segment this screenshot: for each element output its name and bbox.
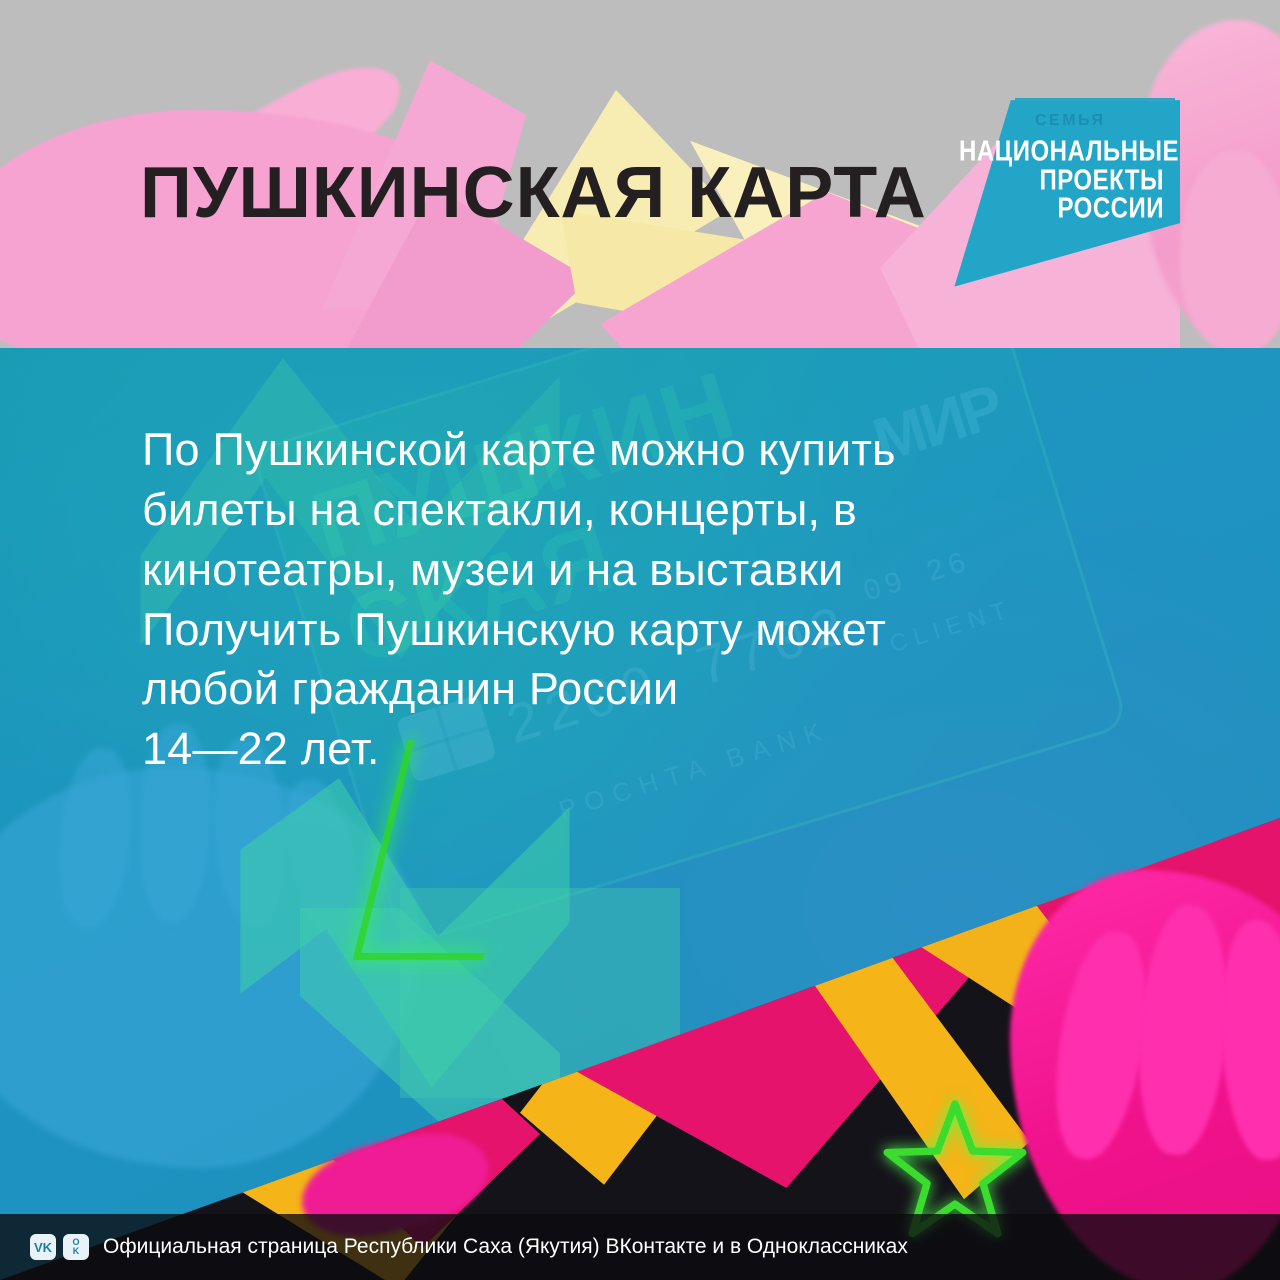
body-line-1: По Пушкинской карте можно купить [142, 420, 1092, 480]
body-line-3: кинотеатры, музеи и на выставки [142, 540, 1092, 600]
vk-icon-label: VK [34, 1240, 52, 1255]
vk-icon[interactable]: VK [30, 1234, 56, 1260]
footer-bar: VK O K Официальная страница Республики С… [0, 1214, 1280, 1280]
body-line-6: 14—22 лет. [142, 719, 1092, 779]
page-title: ПУШКИНСКАЯ КАРТА [140, 152, 927, 234]
logo-text-block: НАЦИОНАЛЬНЫЕ ПРОЕКТЫ РОССИИ [959, 140, 1164, 226]
body-line-2: билеты на спектакли, концерты, в [142, 480, 1092, 540]
logo-line-1: НАЦИОНАЛЬНЫЕ [959, 138, 1164, 166]
national-projects-logo: СЕМЬЯ НАЦИОНАЛЬНЫЕ ПРОЕКТЫ РОССИИ [945, 96, 1180, 301]
body-line-4: Получить Пушкинскую карту может [142, 600, 1092, 660]
body-line-5: любой гражданин России [142, 659, 1092, 719]
body-text-block: По Пушкинской карте можно купить билеты … [142, 420, 1092, 779]
pink-finger-shape [1180, 150, 1280, 348]
logo-line-2: ПРОЕКТЫ [959, 166, 1164, 194]
logo-line-3: РОССИИ [959, 195, 1164, 223]
logo-semya-label: СЕМЬЯ [1035, 112, 1105, 130]
poster-root: ПУШКИНСКАЯ КАРТА СЕМЬЯ НАЦИОНАЛЬНЫЕ ПРОЕ… [0, 0, 1280, 1280]
ok-icon-bottom: K [73, 1247, 80, 1256]
ok-icon[interactable]: O K [63, 1234, 89, 1260]
footer-caption: Официальная страница Республики Саха (Як… [103, 1235, 908, 1259]
